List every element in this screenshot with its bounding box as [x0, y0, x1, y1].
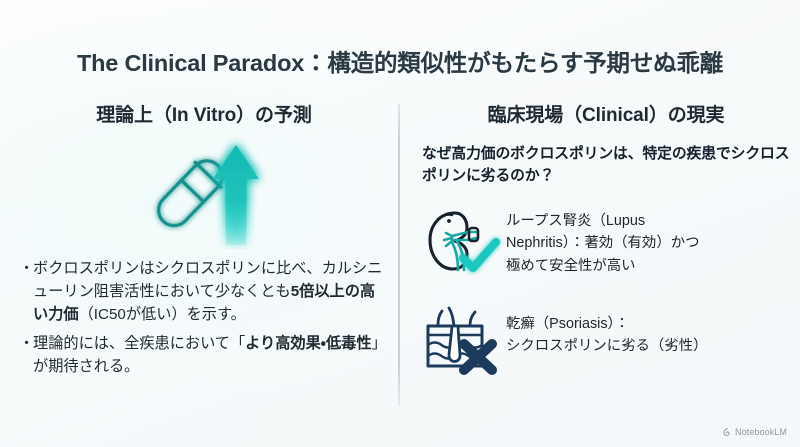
- right-column: 臨床現場（Clinical）の現実 なぜ高力価のボクロスポリンは、特定の疾患でシ…: [422, 100, 790, 380]
- lupus-line-1: ループス腎炎（Lupus: [506, 210, 790, 232]
- lupus-line-2: Nephritis）：著効（有効）かつ: [506, 232, 790, 254]
- bullet-2-part-2: より高効果・低毒性: [245, 335, 371, 352]
- bullet-1-part-3: （IC50が低い）を示す。: [79, 306, 246, 323]
- clinical-question: なぜ高力価のボクロスポリンは、特定の疾患でシクロスポリンに劣るのか？: [422, 143, 790, 188]
- bullet-marker: ・: [19, 257, 34, 280]
- slide-canvas: The Clinical Paradox：構造的類似性がもたらす予期せぬ乖離 理…: [0, 0, 800, 447]
- right-column-heading: 臨床現場（Clinical）の現実: [422, 100, 790, 127]
- list-item: ・理論的には、全疾患において「より高効果・低毒性」が期待される。: [18, 332, 390, 378]
- page-title: The Clinical Paradox：構造的類似性がもたらす予期せぬ乖離: [0, 44, 800, 78]
- kidney-icon: [422, 206, 506, 282]
- test-tube-up-arrow-icon: [126, 137, 286, 249]
- in-vitro-bullet-list: ・ボクロスポリンはシクロスポリンに比べ、カルシニューリン阻害活性において少なくと…: [18, 257, 390, 378]
- psoriasis-text: 乾癬（Psoriasis）： シクロスポリンに劣る（劣性）: [506, 304, 790, 358]
- lupus-line-3: 極めて安全性が高い: [506, 255, 790, 277]
- list-item: ・ボクロスポリンはシクロスポリンに比べ、カルシニューリン阻害活性において少なくと…: [18, 257, 390, 326]
- left-column: 理論上（In Vitro）の予測: [18, 100, 390, 384]
- kidney-icon-box: [422, 206, 506, 282]
- psoriasis-line-1: 乾癬（Psoriasis）：: [506, 313, 790, 335]
- notebooklm-logo-icon: [723, 428, 732, 437]
- lupus-nephritis-text: ループス腎炎（Lupus Nephritis）：著効（有効）かつ 極めて安全性が…: [506, 206, 790, 277]
- left-column-heading: 理論上（In Vitro）の予測: [18, 100, 390, 127]
- psoriasis-line-2: シクロスポリンに劣る（劣性）: [506, 335, 790, 357]
- skin-layers-icon: [422, 304, 506, 380]
- in-vitro-illustration: [18, 135, 390, 253]
- list-item: ループス腎炎（Lupus Nephritis）：著効（有効）かつ 極めて安全性が…: [422, 206, 790, 282]
- notebooklm-watermark: NotebookLM: [723, 428, 787, 437]
- skin-icon-box: [422, 304, 506, 380]
- watermark-label: NotebookLM: [735, 428, 787, 437]
- column-divider: [398, 104, 400, 406]
- bullet-marker: ・: [19, 332, 34, 355]
- list-item: 乾癬（Psoriasis）： シクロスポリンに劣る（劣性）: [422, 304, 790, 380]
- bullet-2-part-1: 理論的には、全疾患において「: [33, 335, 245, 352]
